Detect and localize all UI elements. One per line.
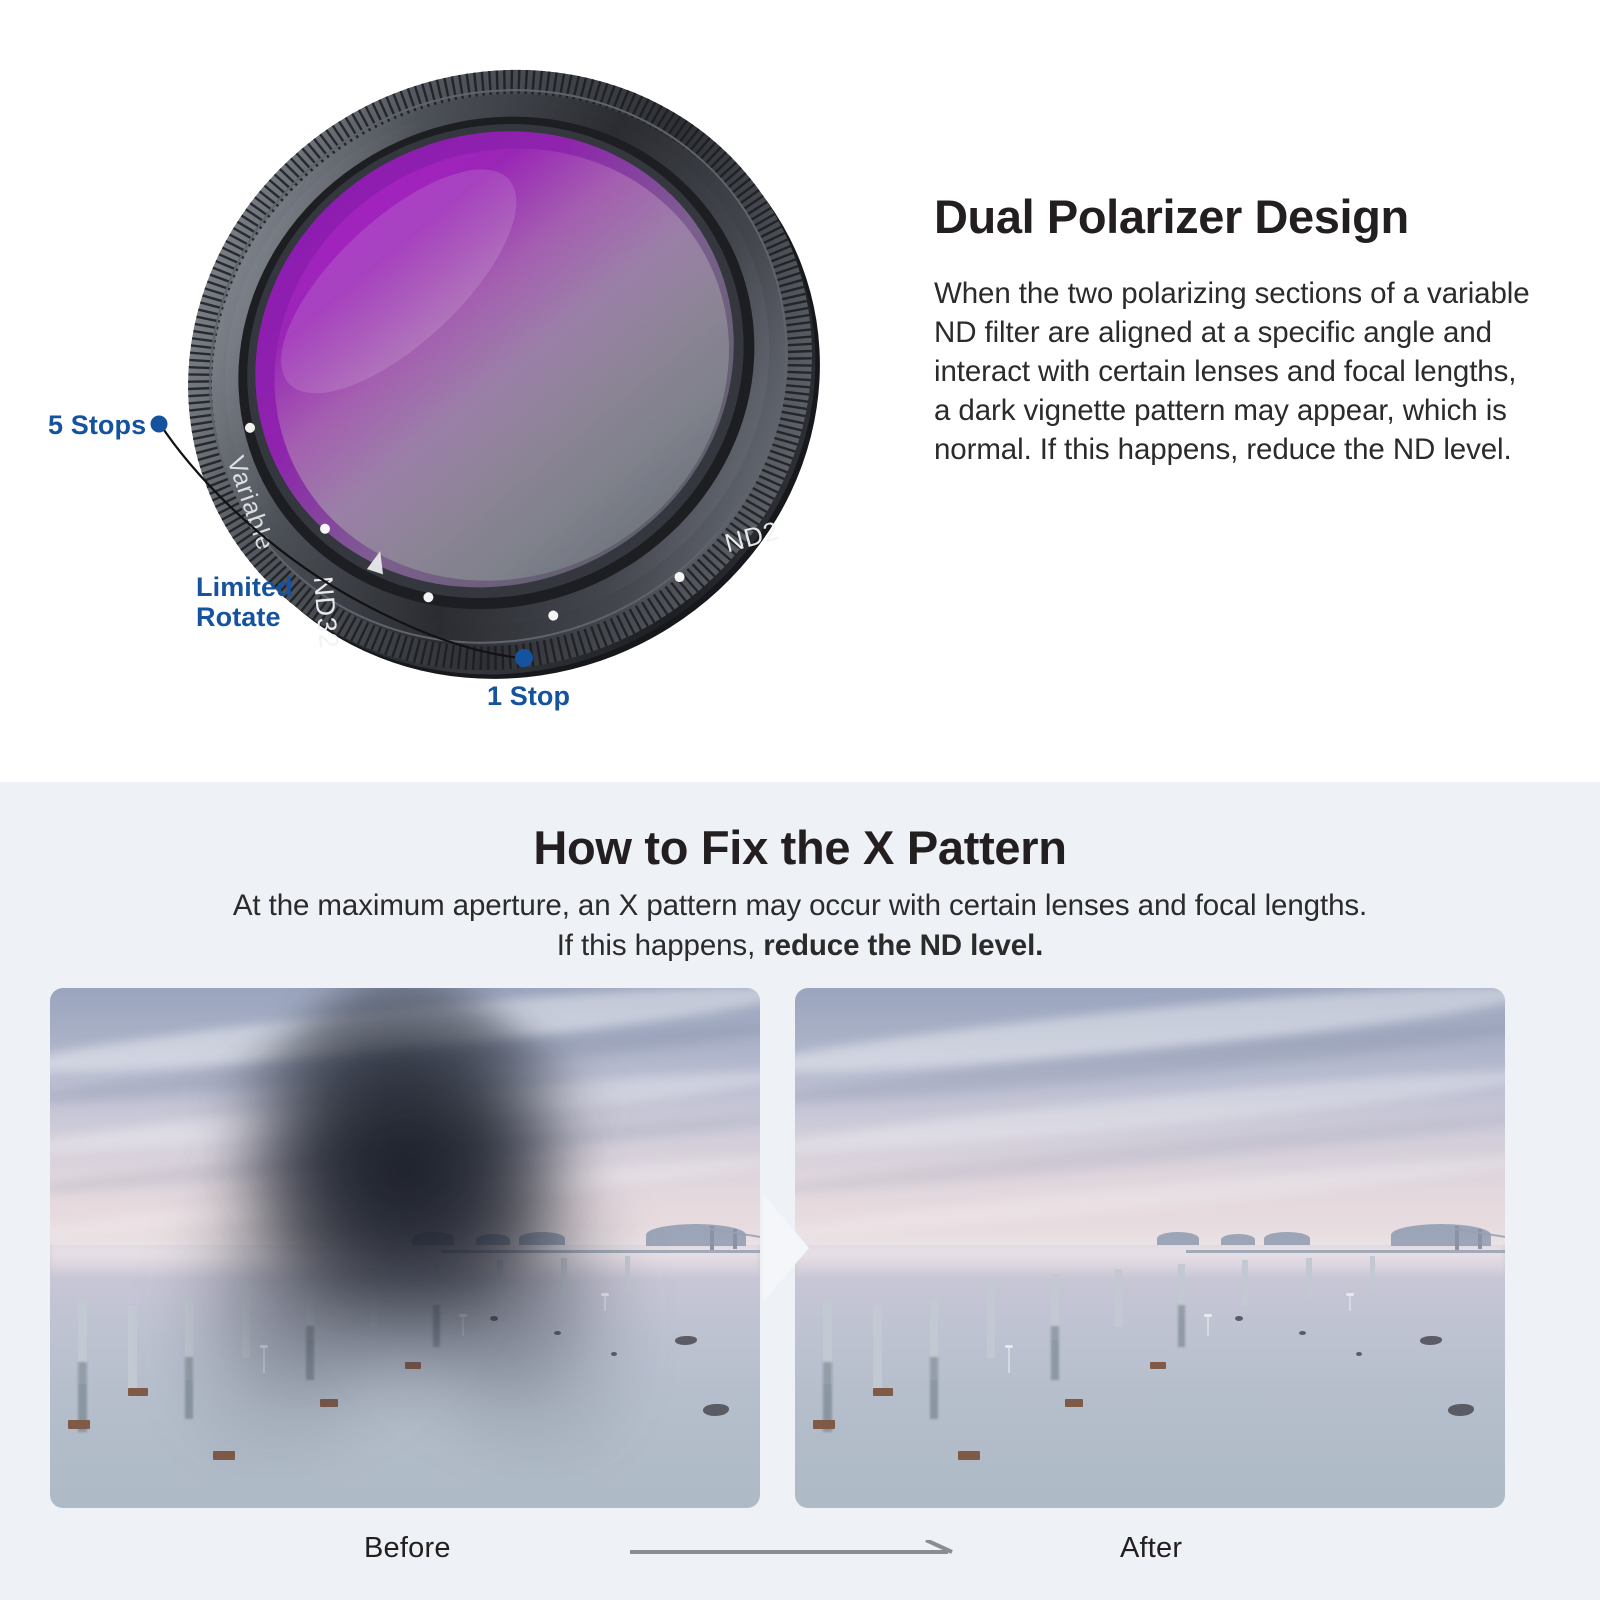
label-1-stop: 1 Stop bbox=[487, 681, 570, 711]
infographic-page: Variable ND32 ND2 5 Stops Limited Rotate… bbox=[0, 0, 1600, 1600]
section-title-dual-polarizer: Dual Polarizer Design bbox=[934, 192, 1534, 241]
label-limited-rotate: Limited Rotate bbox=[196, 572, 293, 632]
before-after-arrow-icon bbox=[630, 1540, 960, 1560]
section-title-x-pattern: How to Fix the X Pattern bbox=[0, 820, 1600, 875]
after-photo bbox=[795, 988, 1505, 1508]
comparison-chevron-icon bbox=[763, 1194, 809, 1302]
ring-label-nd32: ND32 bbox=[308, 575, 344, 650]
before-label: Before bbox=[364, 1532, 451, 1565]
section-subtitle-x-pattern: At the maximum aperture, an X pattern ma… bbox=[0, 886, 1600, 965]
subtitle-line-2-bold: reduce the ND level. bbox=[763, 929, 1043, 962]
section-body-dual-polarizer: When the two polarizing sections of a va… bbox=[934, 275, 1534, 470]
bridge-scene-after bbox=[795, 988, 1505, 1508]
subtitle-line-2-plain: If this happens, bbox=[557, 929, 764, 962]
dual-polarizer-copy: Dual Polarizer Design When the two polar… bbox=[934, 192, 1534, 470]
after-label: After bbox=[1120, 1532, 1182, 1565]
bridge-scene-before bbox=[50, 988, 760, 1508]
dual-polarizer-section: Variable ND32 ND2 5 Stops Limited Rotate… bbox=[0, 0, 1600, 782]
before-photo bbox=[50, 988, 760, 1508]
label-5-stops: 5 Stops bbox=[48, 410, 146, 440]
x-pattern-section: How to Fix the X Pattern At the maximum … bbox=[0, 782, 1600, 1600]
subtitle-line-1: At the maximum aperture, an X pattern ma… bbox=[233, 889, 1367, 922]
